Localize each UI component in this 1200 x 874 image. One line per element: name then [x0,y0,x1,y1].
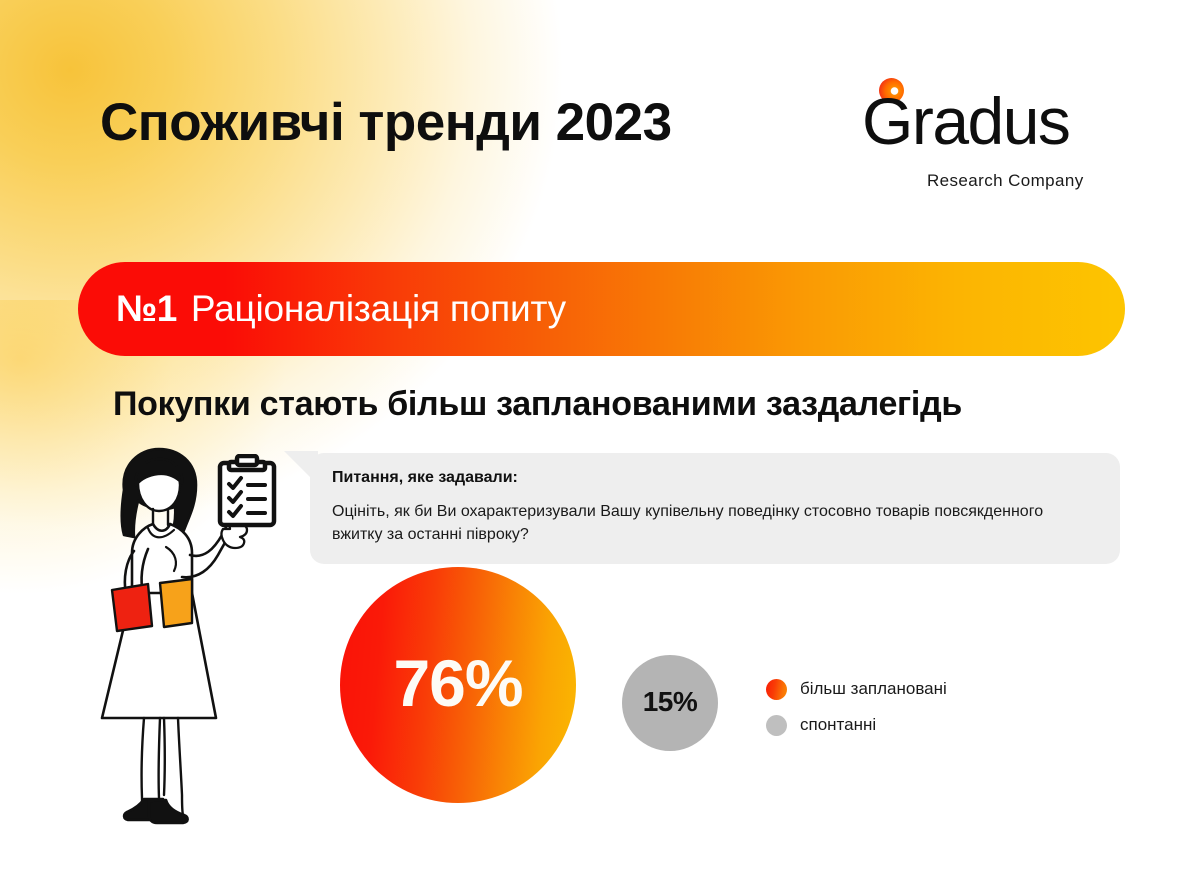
clipboard-checklist-icon [216,454,278,530]
woman-illustration [86,443,326,833]
infographic-canvas: Споживчі тренди 2023 Gradus Research Com… [0,0,1200,874]
logo-tagline: Research Company [927,171,1084,191]
chart-bubble-spontaneous: 15% [622,655,718,751]
gradus-logo: Gradus Research Company [862,78,1134,198]
question-text: Оцініть, як би Ви охарактеризували Вашу … [332,500,1092,546]
trend-banner-content: №1 Раціоналізація попиту [116,288,566,330]
question-bubble: Питання, яке задавали: Оцініть, як би Ви… [310,453,1120,564]
legend-swatch-spontaneous-icon [766,715,787,736]
trend-banner: №1 Раціоналізація попиту [78,262,1125,356]
legend-item-planned: більш заплановані [766,671,947,707]
legend-swatch-planned-icon [766,679,787,700]
trend-number: №1 [116,288,177,330]
trend-label: Раціоналізація попиту [191,288,566,330]
legend-label-spontaneous: спонтанні [800,715,876,735]
chart-value-planned: 76% [393,645,522,721]
section-subtitle: Покупки стають більш запланованими зазда… [113,385,962,424]
chart-value-spontaneous: 15% [643,686,698,718]
page-title: Споживчі тренди 2023 [100,92,672,153]
question-label: Питання, яке задавали: [332,469,518,487]
legend-label-planned: більш заплановані [800,679,947,699]
chart-bubble-planned: 76% [340,567,576,803]
logo-wordmark: Gradus [862,88,1069,154]
legend-item-spontaneous: спонтанні [766,707,947,743]
chart-legend: більш заплановані спонтанні [766,671,947,743]
